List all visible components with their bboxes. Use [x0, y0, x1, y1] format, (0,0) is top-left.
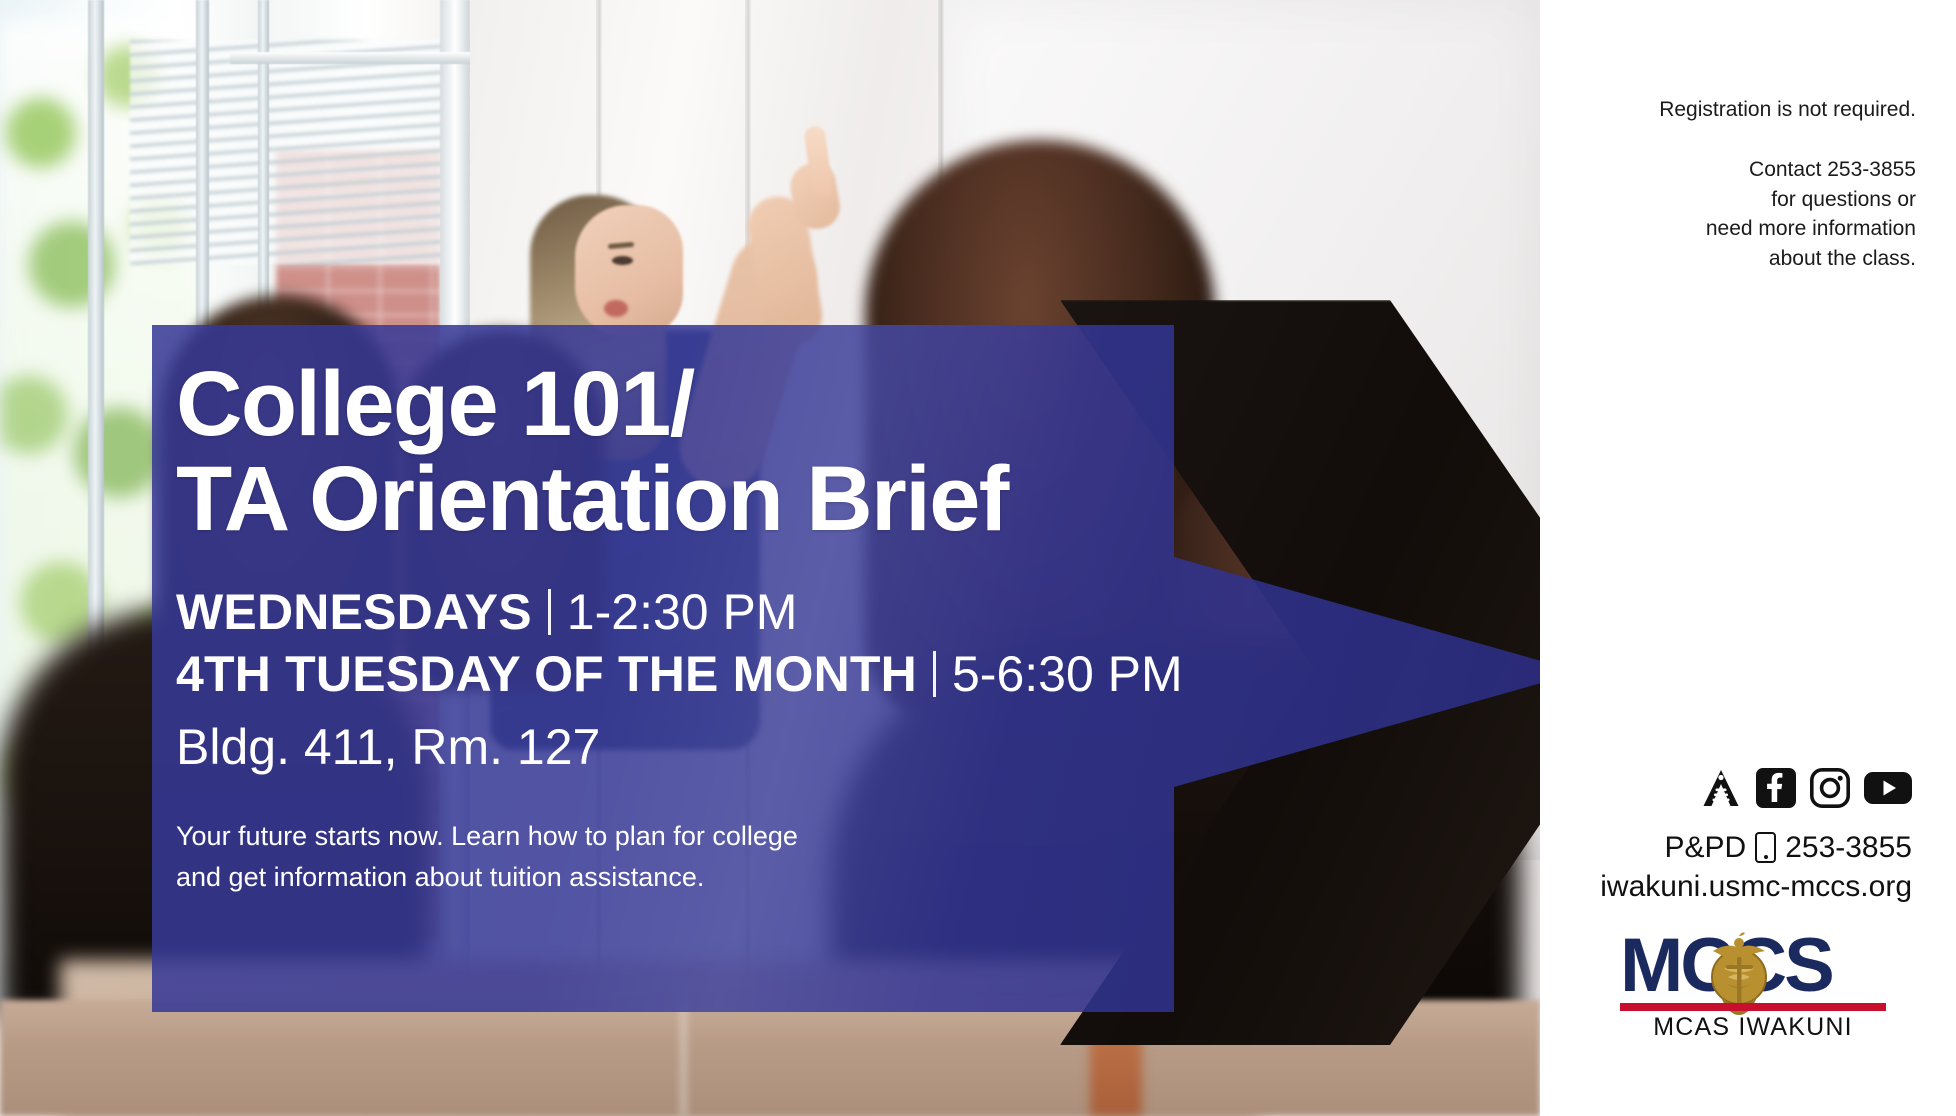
schedule-day: WEDNESDAYS — [176, 581, 532, 644]
schedule-time: 1-2:30 PM — [567, 581, 798, 644]
phone-line: P&PD 253-3855 — [1582, 828, 1912, 867]
page-title: College 101/ TA Orientation Brief — [176, 325, 1336, 547]
mobile-phone-icon — [1755, 832, 1776, 863]
contact-block: P&PD 253-3855 iwakuni.usmc-mccs.org — [1582, 828, 1912, 906]
contact-note: Contact 253-3855 for questions or need m… — [1586, 155, 1916, 274]
schedule-divider — [933, 651, 936, 697]
registration-note: Registration is not required. — [1586, 95, 1916, 125]
schedule-day: 4TH TUESDAY OF THE MONTH — [176, 643, 917, 706]
window-blinds — [130, 40, 480, 265]
title-line-2: TA Orientation Brief — [176, 452, 1336, 547]
title-line-1: College 101/ — [176, 353, 694, 455]
panel-content: College 101/ TA Orientation Brief WEDNES… — [176, 325, 1336, 1012]
instructor-mouth — [604, 300, 628, 317]
facebook-icon[interactable] — [1756, 768, 1796, 808]
instagram-icon[interactable] — [1810, 768, 1850, 808]
logo-red-bar — [1620, 1003, 1886, 1011]
window-mullion — [230, 52, 480, 64]
schedule-row: 4TH TUESDAY OF THE MONTH 5-6:30 PM — [176, 643, 1336, 706]
mccs-app-icon[interactable] — [1700, 768, 1742, 808]
phone-label: P&PD — [1665, 828, 1747, 867]
website-link[interactable]: iwakuni.usmc-mccs.org — [1582, 867, 1912, 906]
youtube-icon[interactable] — [1864, 770, 1912, 806]
schedule-list: WEDNESDAYS 1-2:30 PM 4TH TUESDAY OF THE … — [176, 581, 1336, 706]
description-text: Your future starts now. Learn how to pla… — [176, 816, 936, 897]
mccs-logo: MCCS — [1616, 925, 1916, 1045]
location-text: Bldg. 411, Rm. 127 — [176, 716, 1336, 779]
svg-text:MCAS IWAKUNI: MCAS IWAKUNI — [1653, 1013, 1853, 1041]
schedule-time: 5-6:30 PM — [952, 643, 1183, 706]
poster-canvas: College 101/ TA Orientation Brief WEDNES… — [0, 0, 1956, 1116]
instructor-face — [575, 205, 683, 337]
schedule-divider — [548, 589, 551, 635]
instructor-eye — [612, 256, 633, 265]
schedule-row: WEDNESDAYS 1-2:30 PM — [176, 581, 1336, 644]
social-links[interactable] — [1662, 768, 1912, 808]
phone-number: 253-3855 — [1785, 828, 1912, 867]
desk-seam — [680, 1000, 687, 1116]
sidebar: Registration is not required. Contact 25… — [1540, 0, 1956, 1116]
sidebar-notes: Registration is not required. Contact 25… — [1586, 95, 1916, 274]
